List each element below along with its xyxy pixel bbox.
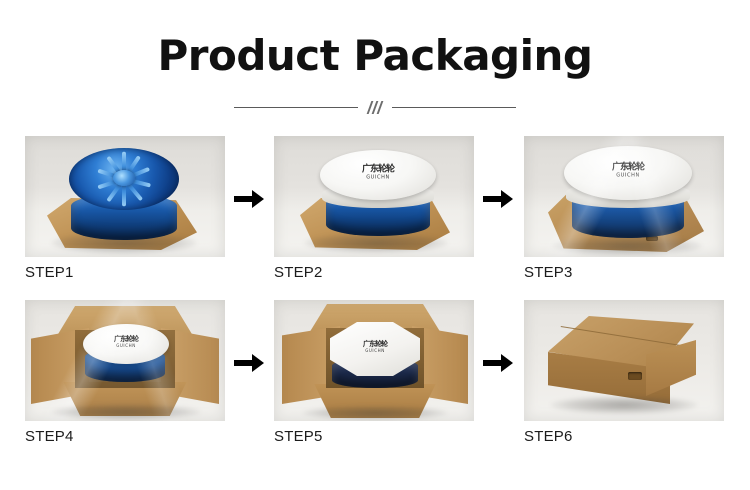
step-cell-step1: STEP1 [25,136,225,281]
divider-rule-right [392,107,516,108]
step-photo-step6 [524,300,724,421]
step-label-step1: STEP1 [25,264,225,281]
page-title: Product Packaging [0,33,750,79]
three-slashes-divider-icon [369,101,381,114]
brand-logo-step3: 广东轮轮 GUICHN [612,163,644,178]
step-label-step3: STEP3 [524,264,724,281]
step-label-step2: STEP2 [274,264,474,281]
arrow-right-icon [481,188,515,210]
divider-rule-left [234,107,358,108]
step-label-step5: STEP5 [274,428,474,445]
brand-logo-step2: 广东轮轮 GUICHN [362,166,394,181]
step-cell-step5: 广东轮轮 GUICHN STEP5 [274,300,474,445]
product-packaging-infographic: Product Packaging [0,0,750,490]
step-photo-step2: 广东轮轮 GUICHN [274,136,474,257]
arrow-right-icon [481,352,515,374]
title-divider [0,96,750,118]
step-photo-step3: 广东轮轮 GUICHN [524,136,724,257]
step-photo-step1 [25,136,225,257]
step-photo-step5: 广东轮轮 GUICHN [274,300,474,421]
brand-logo-step5: 广东轮轮 GUICHN [363,341,387,353]
step-photo-step4: 广东轮轮 GUICHN [25,300,225,421]
steps-grid: STEP1 [0,136,750,456]
step-cell-step6: STEP6 [524,300,724,445]
step-label-step4: STEP4 [25,428,225,445]
steps-row-top: STEP1 [0,136,750,296]
steps-row-bottom: 广东轮轮 GUICHN STEP4 [0,300,750,460]
arrow-right-icon [232,188,266,210]
step-cell-step3: 广东轮轮 GUICHN STEP3 [524,136,724,281]
step-cell-step2: 广东轮轮 GUICHN STEP2 [274,136,474,281]
arrow-right-icon [232,352,266,374]
step-cell-step4: 广东轮轮 GUICHN STEP4 [25,300,225,445]
brand-logo-step4: 广东轮轮 GUICHN [114,336,138,348]
step-label-step6: STEP6 [524,428,724,445]
